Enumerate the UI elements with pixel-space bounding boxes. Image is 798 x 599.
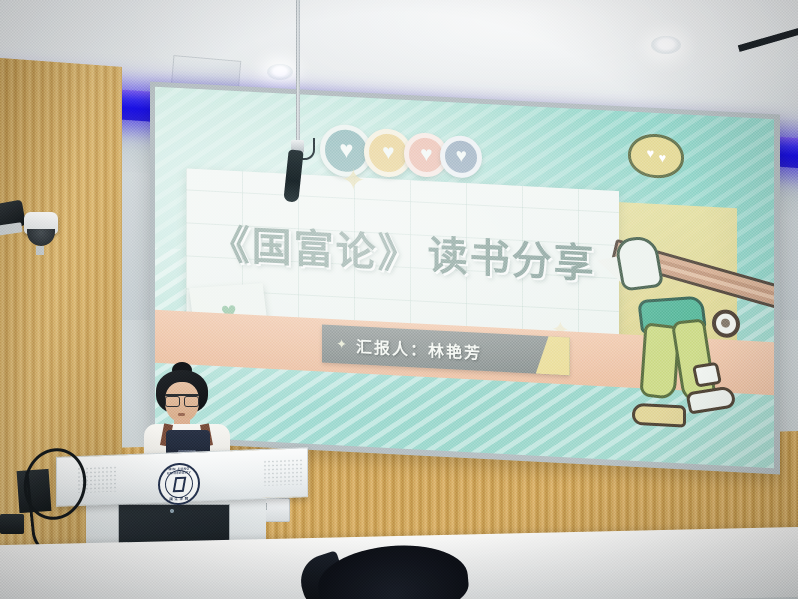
heart-icon: ♥ [339,138,353,163]
sparkle-icon: ✦ [341,163,366,199]
ceiling-downlight [651,36,681,54]
projection-screen-frame: 《国富论》读书分享 ♥ ♥ ♥ ♥ ✦ ✦ ♥ [150,81,780,474]
presenter-mouth [178,413,185,416]
heart-pill-blue: ♥ [440,135,482,179]
projection-screen: 《国富论》读书分享 ♥ ♥ ♥ ♥ ✦ ✦ ♥ [155,87,774,468]
seal-inner-ring [165,469,193,498]
heart-icon: ♥ [456,147,467,167]
seal-monogram [172,476,186,492]
mascot-heart-eye-icon: ♥ [654,151,670,166]
mascot-illustration: ♥ ♥ [601,131,774,447]
floor-socket [0,514,24,534]
slide-title-book: 《国富论》 [210,222,420,279]
glasses-icon [165,394,199,403]
podium-monitor-indicator [170,509,174,513]
mascot-arm [614,235,664,292]
security-camera-mount [36,246,44,255]
mascot-head: ♥ ♥ [628,133,684,180]
podium-speaker-grille [263,458,303,486]
heart-icon: ♥ [420,144,432,166]
slide-title-suffix: 读书分享 [428,233,596,288]
mascot-shoe [632,403,686,428]
presenter-name-text: 汇报人：林艳芳 [356,333,482,364]
diamond-icon: ✦ [336,336,347,353]
pencil-end [712,309,740,338]
lecture-hall-photo: 《国富论》读书分享 ♥ ♥ ♥ ♥ ✦ ✦ ♥ [0,0,798,599]
heart-icon: ♥ [382,142,394,164]
mascot-sock [692,362,722,388]
ceiling-downlight [267,64,293,80]
